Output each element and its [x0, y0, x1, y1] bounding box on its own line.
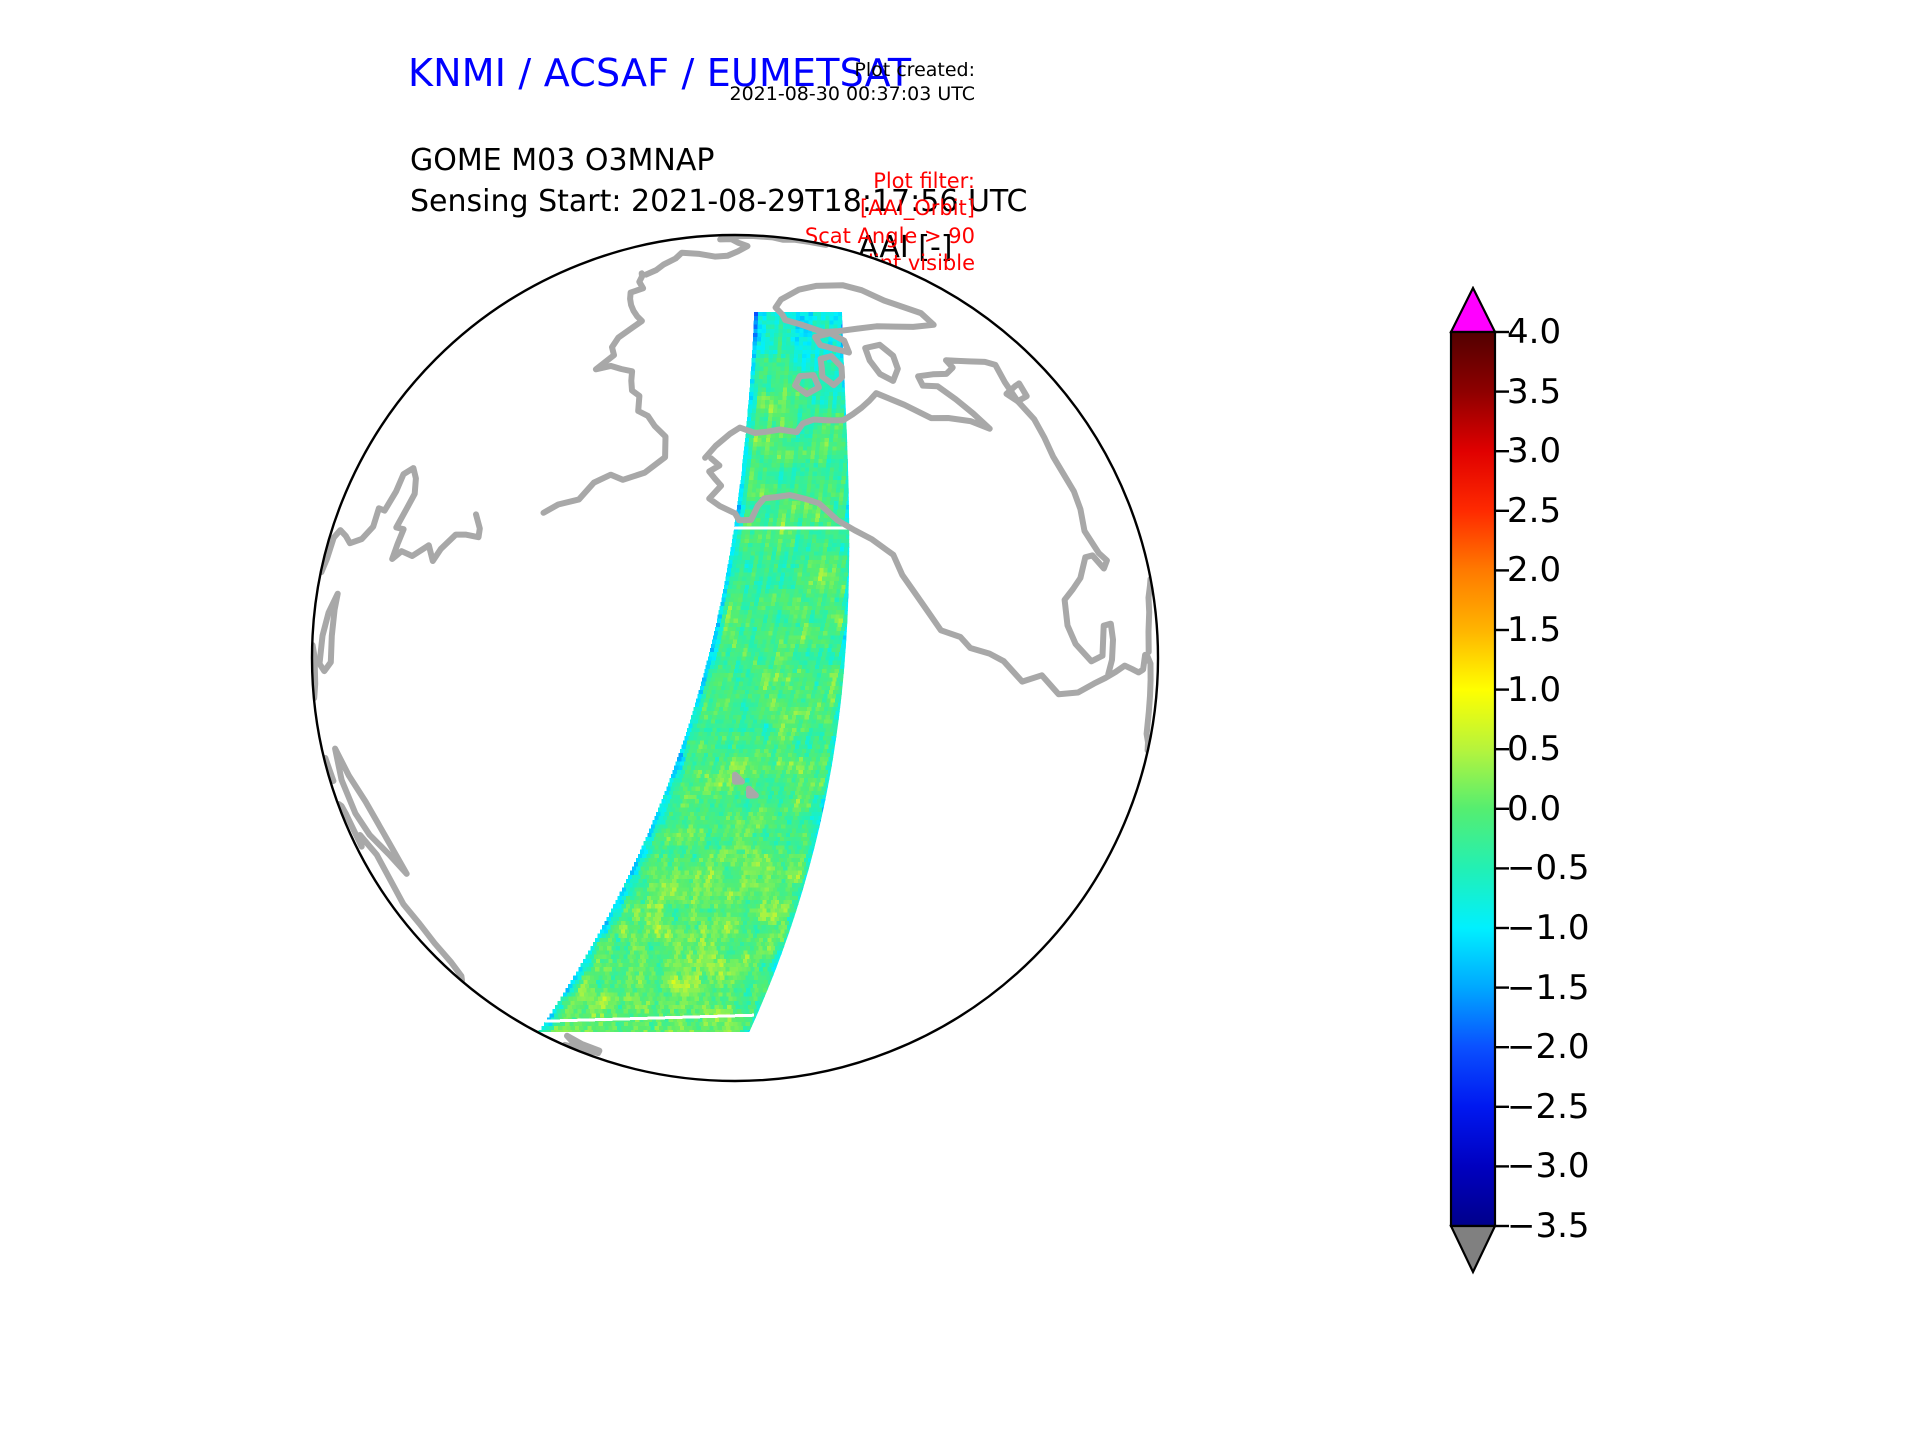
colorbar-tick-label: −3.5: [1507, 1209, 1590, 1243]
colorbar: 4.03.53.02.52.01.51.00.50.0−0.5−1.0−1.5−…: [1443, 286, 1673, 1321]
colorbar-tick-label: 3.0: [1507, 434, 1561, 468]
colorbar-over-arrow: [1451, 288, 1495, 332]
colorbar-tick-label: −1.5: [1507, 971, 1590, 1005]
colorbar-tick-label: −2.5: [1507, 1090, 1590, 1124]
colorbar-tick-label: 2.5: [1507, 494, 1561, 528]
globe-group: [312, 235, 1158, 1081]
colorbar-tick-label: −3.0: [1507, 1149, 1590, 1183]
colorbar-body: [1451, 332, 1495, 1226]
colorbar-tick-label: −2.0: [1507, 1030, 1590, 1064]
colorbar-tick-label: 0.0: [1507, 792, 1561, 826]
colorbar-tick-label: 4.0: [1507, 315, 1561, 349]
colorbar-tick-label: 3.5: [1507, 375, 1561, 409]
colorbar-tick-label: 1.5: [1507, 613, 1561, 647]
colorbar-tick-label: −1.0: [1507, 911, 1590, 945]
coastline-segment-overlay: [1149, 579, 1151, 652]
colorbar-tick-label: 0.5: [1507, 732, 1561, 766]
colorbar-tick-label: −0.5: [1507, 851, 1590, 885]
colorbar-under-arrow: [1451, 1226, 1495, 1272]
colorbar-tick-label: 2.0: [1507, 553, 1561, 587]
figure-canvas: KNMI / ACSAF / EUMETSAT Plot created: 20…: [0, 0, 1920, 1440]
colorbar-tick-label: 1.0: [1507, 673, 1561, 707]
